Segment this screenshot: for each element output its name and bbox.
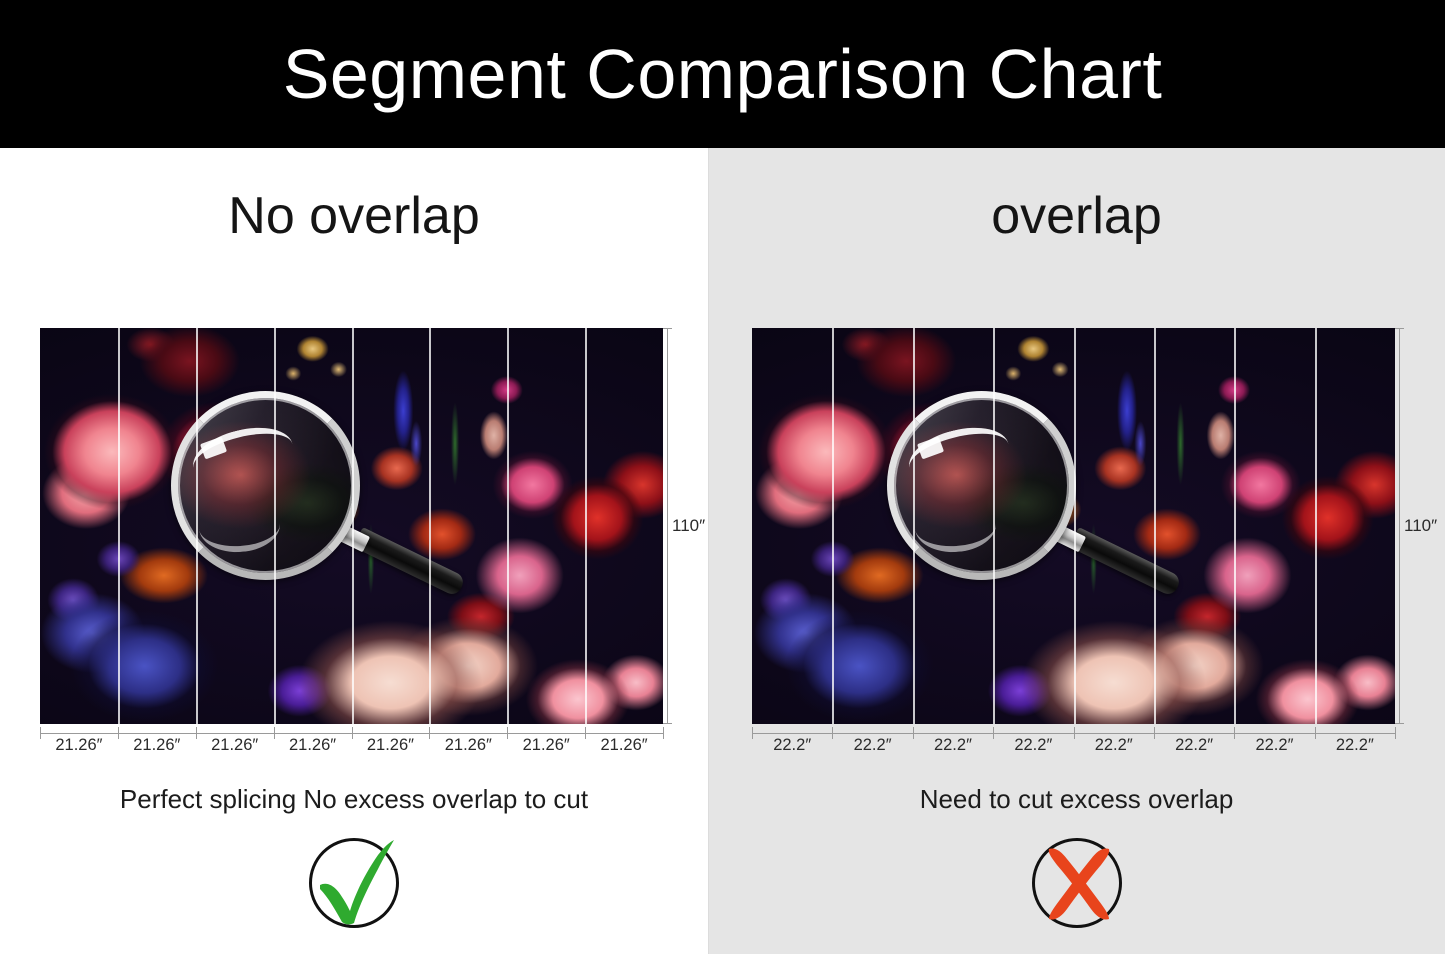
segment-label: 22.2″: [1315, 736, 1395, 755]
segment-label: 21.26″: [352, 736, 430, 755]
caption-overlap: Need to cut excess overlap: [708, 784, 1445, 815]
segment-divider: [352, 328, 354, 724]
segment-label-row-left: 21.26″ 21.26″ 21.26″ 21.26″ 21.26″ 21.26…: [40, 736, 663, 755]
panel-heading-overlap: overlap: [708, 190, 1445, 242]
segment-label: 22.2″: [1074, 736, 1154, 755]
segment-label: 22.2″: [1154, 736, 1234, 755]
segment-divider: [118, 328, 120, 724]
panel-overlap: overlap: [708, 148, 1445, 954]
segment-divider: [429, 328, 431, 724]
verdict-overlap: [708, 838, 1445, 928]
dimension-line: [1399, 328, 1400, 724]
segment-comparison-chart-page: Segment Comparison Chart No overlap: [0, 0, 1445, 954]
segment-divider: [1074, 328, 1076, 724]
dimension-tick: [1395, 727, 1396, 739]
segment-divider: [913, 328, 915, 724]
segment-label: 21.26″: [507, 736, 585, 755]
segment-label: 21.26″: [40, 736, 118, 755]
panel-heading-no-overlap: No overlap: [0, 190, 738, 242]
segment-divider: [1315, 328, 1317, 724]
check-path: [320, 840, 394, 924]
segment-divider: [832, 328, 834, 724]
height-dimension-right: 110″: [1395, 328, 1441, 724]
dimension-line: [667, 328, 668, 724]
mural-overlap: [752, 328, 1395, 724]
mural-image-right: [752, 328, 1395, 724]
segment-dividers-left: [40, 328, 663, 724]
dimension-tick: [663, 727, 664, 739]
mural-no-overlap: [40, 328, 663, 724]
height-label-left: 110″: [672, 516, 705, 536]
width-dimension-left: 21.26″ 21.26″ 21.26″ 21.26″ 21.26″ 21.26…: [40, 724, 663, 770]
verdict-no-overlap: [0, 838, 738, 928]
comparison-panels: No overlap: [0, 148, 1445, 954]
dimension-cap: [1395, 328, 1404, 329]
verdict-circle: [309, 838, 399, 928]
segment-label: 22.2″: [1234, 736, 1314, 755]
segment-label: 21.26″: [118, 736, 196, 755]
segment-divider: [196, 328, 198, 724]
width-dimension-right: 22.2″ 22.2″ 22.2″ 22.2″ 22.2″ 22.2″ 22.2…: [752, 724, 1395, 770]
segment-divider: [274, 328, 276, 724]
verdict-circle: [1032, 838, 1122, 928]
cross-icon: [1029, 831, 1125, 931]
segment-divider: [1234, 328, 1236, 724]
page-title: Segment Comparison Chart: [0, 0, 1445, 148]
segment-label: 21.26″: [274, 736, 352, 755]
segment-divider: [1154, 328, 1156, 724]
segment-label: 22.2″: [913, 736, 993, 755]
check-icon: [306, 831, 402, 931]
dimension-cap: [1395, 723, 1404, 724]
segment-label-row-right: 22.2″ 22.2″ 22.2″ 22.2″ 22.2″ 22.2″ 22.2…: [752, 736, 1395, 755]
segment-divider: [585, 328, 587, 724]
segment-divider: [507, 328, 509, 724]
segment-label: 21.26″: [196, 736, 274, 755]
mural-image-left: [40, 328, 663, 724]
height-label-right: 110″: [1404, 516, 1437, 536]
segment-divider: [993, 328, 995, 724]
segment-label: 22.2″: [993, 736, 1073, 755]
height-dimension-left: 110″: [663, 328, 709, 724]
caption-no-overlap: Perfect splicing No excess overlap to cu…: [0, 784, 738, 815]
panel-no-overlap: No overlap: [0, 148, 708, 954]
segment-label: 22.2″: [832, 736, 912, 755]
dimension-cap: [663, 328, 672, 329]
segment-label: 21.26″: [585, 736, 663, 755]
panel-divider: [708, 148, 709, 954]
segment-label: 21.26″: [429, 736, 507, 755]
segment-label: 22.2″: [752, 736, 832, 755]
dimension-cap: [663, 723, 672, 724]
title-banner: Segment Comparison Chart: [0, 0, 1445, 148]
segment-dividers-right: [752, 328, 1395, 724]
